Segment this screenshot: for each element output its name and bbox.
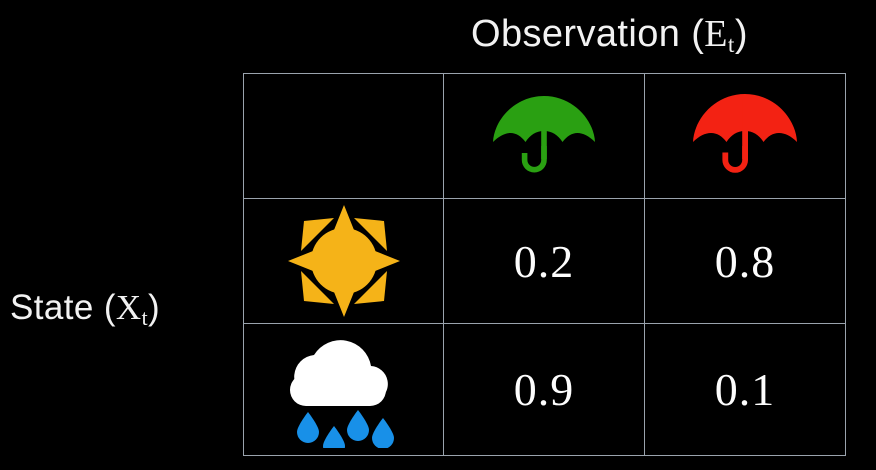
observation-variable-subscript: t <box>728 32 735 58</box>
observation-label-prefix: Observation ( <box>471 13 704 55</box>
umbrella-red-icon-wrap <box>645 74 845 198</box>
state-variable: X <box>116 288 142 327</box>
sun-icon <box>286 203 402 319</box>
umbrella-red-icon <box>690 88 800 184</box>
umbrella-green-icon-wrap <box>444 74 644 198</box>
row-header-sunny <box>244 199 444 324</box>
table-corner-cell <box>244 74 444 199</box>
table-row: 0.2 0.8 <box>244 199 846 324</box>
prob-cell-sun-umbrella-false: 0.8 <box>645 199 846 324</box>
state-variable-subscript: t <box>142 306 148 330</box>
raindrops <box>297 410 394 448</box>
state-label-suffix: ) <box>148 288 160 327</box>
column-header-umbrella-false <box>645 74 846 199</box>
table-row: 0.9 0.1 <box>244 324 846 456</box>
observation-axis-label: Observation (Et) <box>471 10 748 63</box>
state-label-prefix: State ( <box>10 288 116 327</box>
rain-cloud-icon <box>278 332 410 448</box>
column-header-umbrella-true <box>444 74 645 199</box>
prob-cell-rain-umbrella-false: 0.1 <box>645 324 846 456</box>
prob-cell-rain-umbrella-true: 0.9 <box>444 324 645 456</box>
prob-cell-sun-umbrella-true: 0.2 <box>444 199 645 324</box>
rain-cloud-icon-wrap <box>244 324 443 455</box>
table-header-row <box>244 74 846 199</box>
sensor-model-table: 0.2 0.8 <box>243 73 846 456</box>
umbrella-green-icon <box>489 88 599 184</box>
observation-label-suffix: ) <box>735 13 748 55</box>
observation-variable: E <box>704 13 728 55</box>
state-axis-label: State (Xt) <box>10 285 160 335</box>
sun-icon-wrap <box>244 199 443 323</box>
row-header-rainy <box>244 324 444 456</box>
